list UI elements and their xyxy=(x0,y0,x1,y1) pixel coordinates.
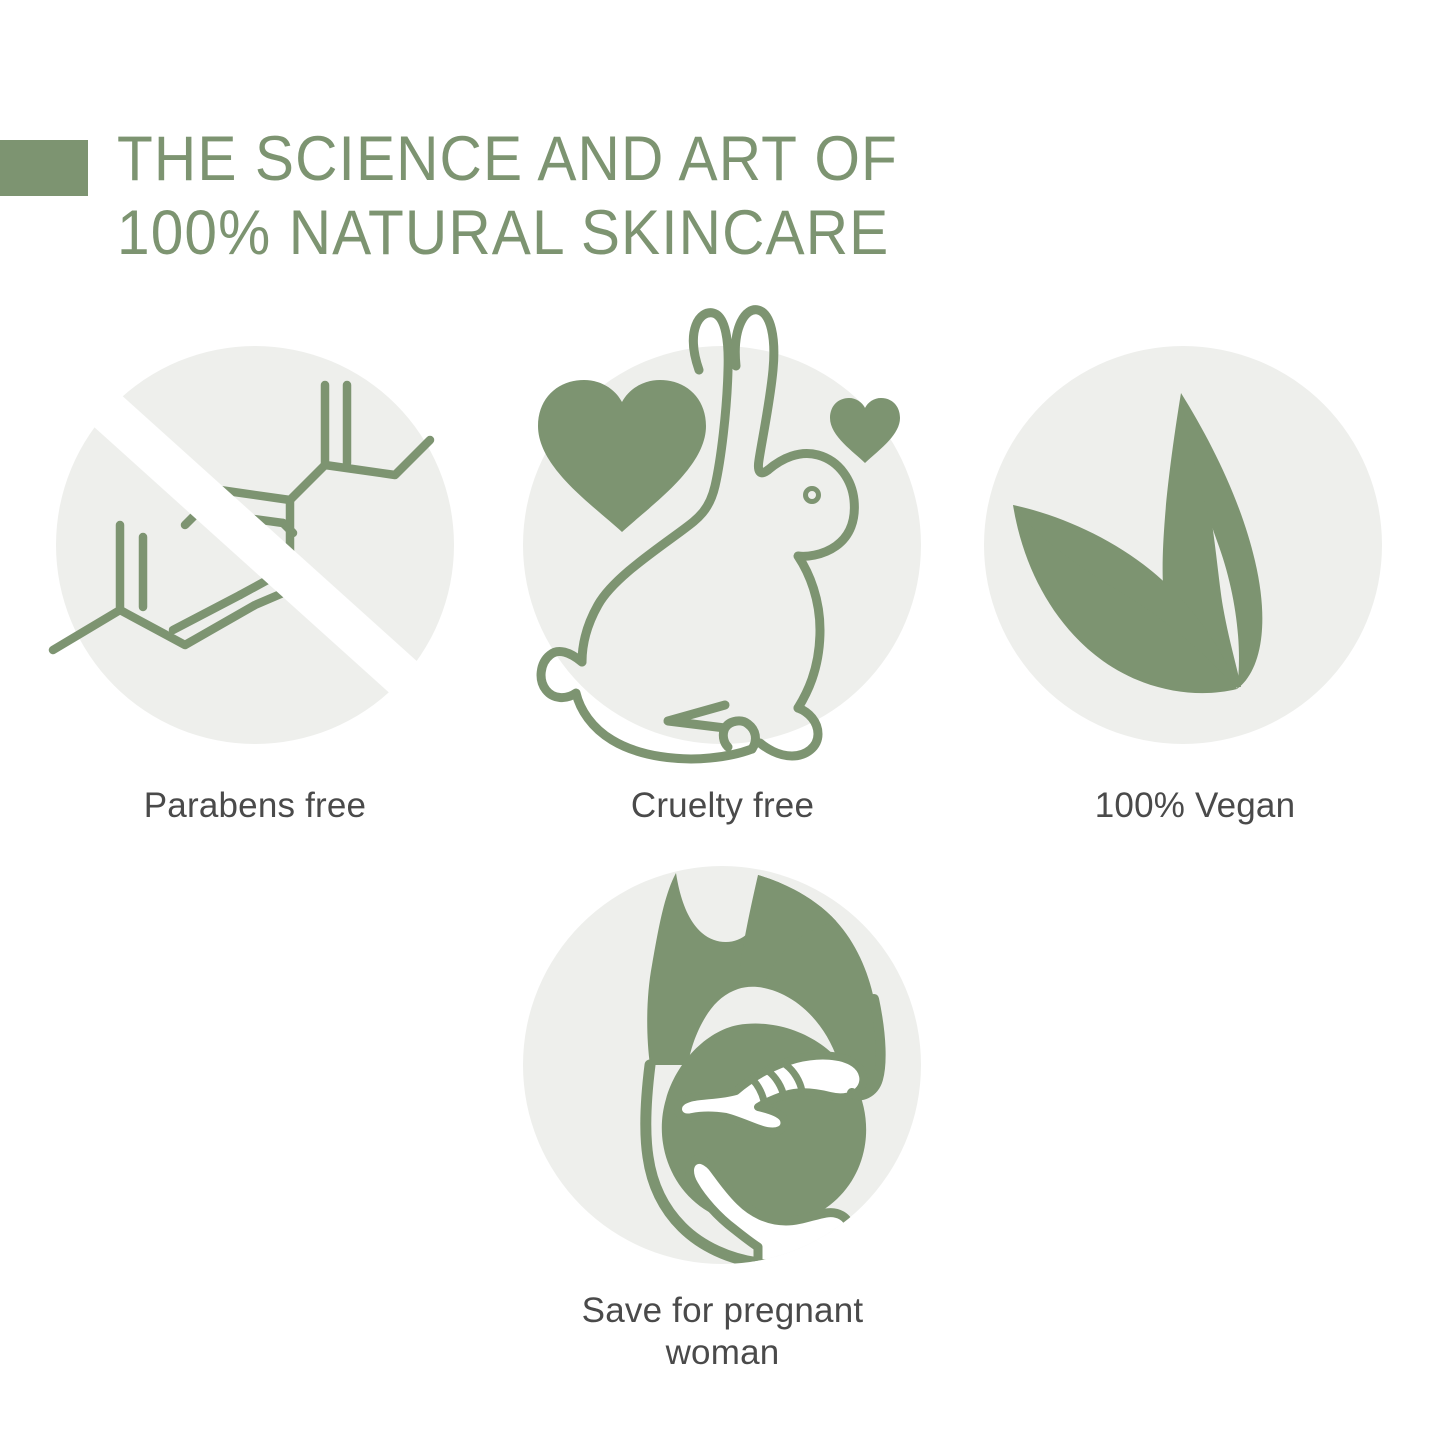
feature-caption: Cruelty free xyxy=(500,785,945,827)
infographic-page: THE SCIENCE AND ART OF 100% NATURAL SKIN… xyxy=(0,0,1445,1445)
feature-pregnancy-safe[interactable]: Save for pregnant woman xyxy=(500,865,945,1405)
header: THE SCIENCE AND ART OF 100% NATURAL SKIN… xyxy=(0,122,1050,302)
two-leaves-icon xyxy=(975,345,1415,765)
feature-caption: Parabens free xyxy=(25,785,485,827)
feature-caption: Save for pregnant woman xyxy=(500,1290,945,1374)
molecule-group xyxy=(53,346,454,744)
page-title-line-2: 100% NATURAL SKINCARE xyxy=(117,196,982,270)
page-title-line-1: THE SCIENCE AND ART OF xyxy=(117,122,982,196)
molecule-crossed-out-icon xyxy=(25,345,485,765)
feature-caption: 100% Vegan xyxy=(975,785,1415,827)
accent-square xyxy=(0,140,88,196)
icon-circle-background xyxy=(56,346,454,744)
rabbit-hearts-icon xyxy=(500,300,945,770)
pregnant-woman-icon xyxy=(500,865,945,1285)
page-title: THE SCIENCE AND ART OF 100% NATURAL SKIN… xyxy=(117,122,982,270)
feature-cruelty-free[interactable]: Cruelty free xyxy=(500,300,945,845)
feature-vegan[interactable]: 100% Vegan xyxy=(975,345,1415,845)
feature-parabens-free[interactable]: Parabens free xyxy=(25,345,485,845)
